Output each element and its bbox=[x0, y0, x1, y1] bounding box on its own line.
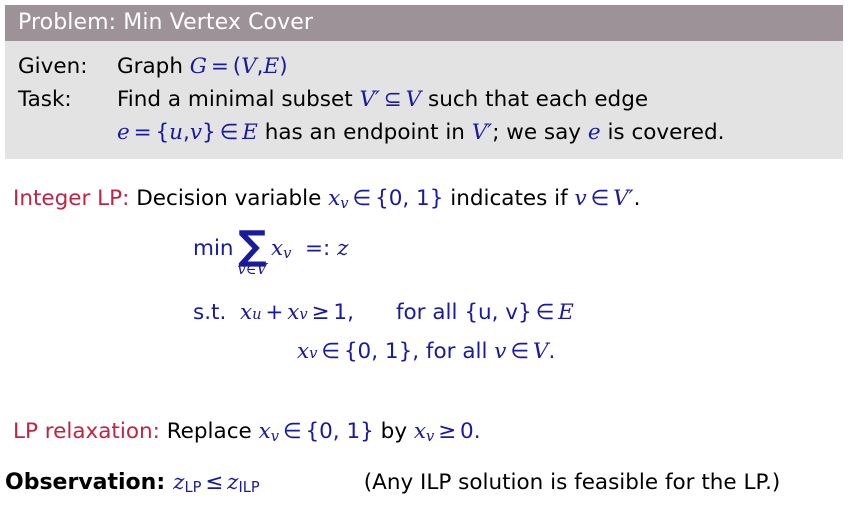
forall-spacer-1 bbox=[457, 300, 464, 325]
math-paren-open: ( bbox=[233, 54, 241, 79]
forall-spacer-2a bbox=[419, 339, 426, 364]
math-x-relax-subscript: v bbox=[271, 428, 279, 445]
math-x-ilp: x bbox=[328, 186, 340, 211]
math-in: ∈ bbox=[216, 120, 242, 145]
lp-relaxation-line: LP relaxation: Replace xv∈{0, 1} by xv≥0… bbox=[5, 416, 843, 453]
math-brace-close: } bbox=[202, 120, 216, 145]
math-plus: + bbox=[262, 300, 288, 325]
math-geq-c1: ≥ bbox=[308, 300, 334, 325]
forall-label-1: for all bbox=[396, 300, 458, 325]
math-e: e bbox=[117, 120, 130, 145]
math-x-ilp-subscript: v bbox=[340, 195, 348, 212]
given-text-graph: Graph bbox=[117, 54, 190, 79]
integer-lp-period: . bbox=[634, 186, 641, 211]
integer-lp-line: Integer LP: Decision variable xv∈{0, 1} … bbox=[5, 183, 843, 220]
math-in-relax: ∈ bbox=[279, 419, 305, 444]
math-paren-close: ) bbox=[279, 54, 287, 79]
objective-line: min∑v∈Vxv =: z bbox=[5, 228, 843, 298]
math-G: G bbox=[190, 54, 207, 79]
math-V-2: V bbox=[406, 87, 422, 112]
math-defines: =: bbox=[305, 236, 330, 261]
math-zero-relax: 0. bbox=[460, 419, 481, 444]
math-set-01: {0, 1} bbox=[375, 186, 443, 211]
math-in-c1: ∈ bbox=[532, 300, 558, 325]
constraint-line-1: s.t. xu+xv≥1,for all {u, v}∈E bbox=[5, 300, 843, 325]
math-in-c2: ∈ bbox=[317, 339, 343, 364]
math-xu-subscript: u bbox=[252, 306, 261, 323]
objective-term: xv bbox=[271, 236, 291, 262]
observation-note: (Any ILP solution is feasible for the LP… bbox=[364, 470, 781, 495]
math-V-prime-ilp: V′ bbox=[613, 186, 633, 211]
math-equals: = bbox=[207, 54, 233, 79]
math-V: V bbox=[241, 54, 257, 79]
integer-lp-label: Integer LP: bbox=[13, 186, 129, 211]
math-brace-open: { bbox=[155, 120, 169, 145]
given-label: Given: bbox=[18, 50, 117, 83]
task-row-continuation: e={u,v}∈E has an endpoint in V′; we say … bbox=[5, 116, 843, 149]
task-text-wesay: ; we say bbox=[492, 120, 588, 145]
lp-program: min∑v∈Vxv =: z s.t. xu+xv≥1,for all {u, … bbox=[5, 228, 843, 364]
math-in-ilp: ∈ bbox=[349, 186, 375, 211]
lp-relaxation-text-replace: Replace bbox=[167, 419, 259, 444]
summation-group: ∑v∈V bbox=[238, 226, 267, 278]
constraint-line-2: xv∈{0, 1}, for all v∈V. bbox=[5, 339, 843, 364]
problem-block: Problem: Min Vertex Cover Given: Graph G… bbox=[5, 5, 843, 159]
math-x-objective-subscript: v bbox=[283, 245, 291, 262]
math-in-ilp-2: ∈ bbox=[587, 186, 613, 211]
given-content: Graph G=(V,E) bbox=[117, 50, 843, 83]
math-v-c2: v bbox=[494, 339, 506, 364]
problem-header-bar: Problem: Min Vertex Cover bbox=[5, 5, 843, 41]
math-rhs-1: 1, bbox=[333, 300, 354, 325]
math-e-2: e bbox=[588, 120, 601, 145]
math-set-uv: {u, v} bbox=[464, 300, 531, 325]
lp-relaxation-spacer bbox=[160, 419, 167, 444]
lower-section: Integer LP: Decision variable xv∈{0, 1} … bbox=[5, 183, 843, 220]
math-V-c2: V bbox=[533, 339, 549, 364]
min-label: min bbox=[193, 236, 234, 261]
st-spacer bbox=[226, 300, 240, 325]
math-u: u bbox=[169, 120, 183, 145]
math-E: E bbox=[263, 54, 279, 79]
task-text-suchthat: such that each edge bbox=[421, 87, 648, 112]
task-content: Find a minimal subset V′⊆V such that eac… bbox=[117, 83, 843, 116]
math-xv-c2: x bbox=[297, 339, 309, 364]
math-xv-c1-subscript: v bbox=[299, 306, 307, 323]
math-x-objective: x bbox=[271, 236, 283, 261]
objective-spacer bbox=[291, 236, 305, 261]
math-xv-c1: x bbox=[287, 300, 299, 325]
math-period-c2: . bbox=[548, 339, 555, 364]
math-comma-2: , bbox=[183, 120, 190, 145]
task-label: Task: bbox=[18, 83, 117, 116]
math-z-lp-subscript: LP bbox=[184, 479, 201, 496]
math-z-ilp: z bbox=[227, 470, 238, 495]
lp-relaxation-section: LP relaxation: Replace xv∈{0, 1} by xv≥0… bbox=[5, 416, 843, 453]
math-v-ilp: v bbox=[575, 186, 587, 211]
math-x-relax: x bbox=[259, 419, 271, 444]
math-V-prime: V′ bbox=[360, 87, 380, 112]
math-geq-relax: ≥ bbox=[434, 419, 460, 444]
math-set-01-relax: {0, 1} bbox=[305, 419, 373, 444]
forall-spacer-2b bbox=[487, 339, 494, 364]
integer-lp-text-indicates: indicates if bbox=[443, 186, 574, 211]
math-equals-2: = bbox=[130, 120, 156, 145]
observation-label: Observation: bbox=[5, 470, 165, 495]
math-V-prime-2: V′ bbox=[472, 120, 492, 145]
task-text-endpoint: has an endpoint in bbox=[258, 120, 472, 145]
task-row: Task: Find a minimal subset V′⊆V such th… bbox=[5, 83, 843, 116]
math-x-relax-2: x bbox=[414, 419, 426, 444]
lp-relaxation-label: LP relaxation: bbox=[13, 419, 160, 444]
problem-body: Given: Graph G=(V,E) Task: Find a minima… bbox=[5, 41, 843, 159]
math-set-01-c2: {0, 1}, bbox=[344, 339, 419, 364]
task-text-covered: is covered. bbox=[601, 120, 725, 145]
given-row: Given: Graph G=(V,E) bbox=[5, 50, 843, 83]
summation-subscript: v∈V bbox=[238, 263, 267, 278]
math-xv-c2-subscript: v bbox=[309, 345, 317, 362]
task-continuation-content: e={u,v}∈E has an endpoint in V′; we say … bbox=[117, 116, 843, 149]
math-v: v bbox=[190, 120, 202, 145]
math-leq: ≤ bbox=[201, 470, 227, 495]
math-subseteq: ⊆ bbox=[380, 87, 406, 112]
math-z-ilp-subscript: ILP bbox=[238, 479, 259, 496]
math-E-2: E bbox=[242, 120, 258, 145]
math-z-lp: z bbox=[173, 470, 184, 495]
math-E-c1: E bbox=[558, 300, 574, 325]
integer-lp-text-decision: Decision variable bbox=[136, 186, 328, 211]
subject-to-label: s.t. bbox=[193, 300, 226, 325]
math-xu: x bbox=[240, 300, 252, 325]
summation-symbol: ∑ bbox=[238, 226, 267, 266]
observation-row: Observation: zLP≤zILP (Any ILP solution … bbox=[5, 470, 843, 496]
forall-label-2: for all bbox=[426, 339, 488, 364]
math-in-c2-2: ∈ bbox=[506, 339, 532, 364]
math-z: z bbox=[337, 236, 348, 261]
task-text-find: Find a minimal subset bbox=[117, 87, 360, 112]
observation-math: zLP≤zILP bbox=[173, 470, 260, 496]
problem-title: Problem: Min Vertex Cover bbox=[18, 10, 313, 35]
lp-relaxation-text-by: by bbox=[374, 419, 414, 444]
